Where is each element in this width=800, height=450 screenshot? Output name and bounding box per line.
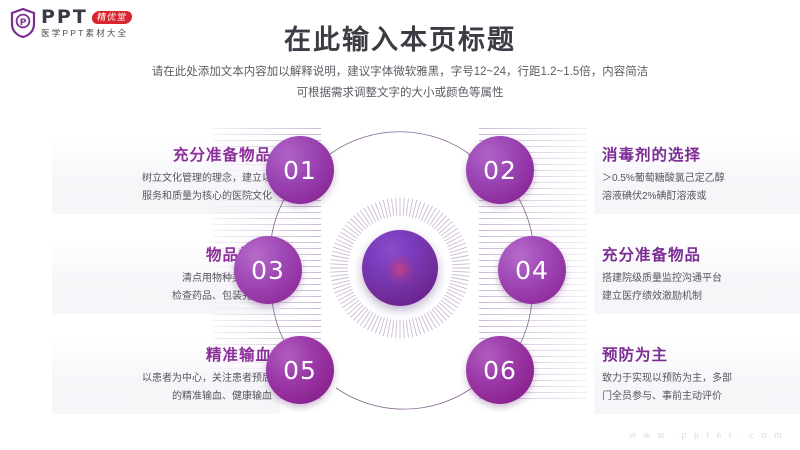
content-block-right-2[interactable]: 充分准备物品 搭建院级质量监控沟通平台 建立医疗绩效激励机制 — [594, 240, 800, 314]
node-number: 03 — [251, 256, 285, 285]
block-body: ＞0.5%葡萄糖酸氯己定乙醇 溶液碘伏2%碘酊溶液或 — [602, 170, 800, 205]
block-heading: 预防为主 — [602, 344, 800, 367]
block-body-line-2: 建立医疗绩效激励机制 — [602, 288, 800, 306]
content-block-right-3[interactable]: 预防为主 致力于实现以预防为主，多部 门全员参与、事前主动评价 — [594, 340, 800, 414]
block-body-line-2: 门全员参与、事前主动评价 — [602, 388, 800, 406]
block-body-line-1: ＞0.5%葡萄糖酸氯己定乙醇 — [602, 170, 800, 188]
block-body-line-1: 致力于实现以预防为主，多部 — [602, 370, 800, 388]
process-node-03[interactable]: 03 — [234, 236, 302, 304]
page-title: 在此输入本页标题 — [0, 18, 800, 57]
node-number: 02 — [483, 156, 517, 185]
footer-watermark: w w w . p p t e r . c o m — [629, 430, 784, 440]
node-number: 01 — [283, 156, 317, 185]
center-sphere[interactable] — [362, 230, 438, 306]
page-subtitle: 请在此处添加文本内容加以解释说明，建议字体微软雅黑，字号12~24，行距1.2~… — [0, 62, 800, 105]
process-node-06[interactable]: 06 — [466, 336, 534, 404]
process-node-05[interactable]: 05 — [266, 336, 334, 404]
node-number: 05 — [283, 356, 317, 385]
block-body-line-1: 搭建院级质量监控沟通平台 — [602, 270, 800, 288]
process-node-02[interactable]: 02 — [466, 136, 534, 204]
block-body-line-2: 溶液碘伏2%碘酊溶液或 — [602, 188, 800, 206]
process-node-01[interactable]: 01 — [266, 136, 334, 204]
block-body: 致力于实现以预防为主，多部 门全员参与、事前主动评价 — [602, 370, 800, 405]
subtitle-line-1: 请在此处添加文本内容加以解释说明，建议字体微软雅黑，字号12~24，行距1.2~… — [0, 62, 800, 83]
block-heading: 消毒剂的选择 — [602, 144, 800, 167]
process-node-04[interactable]: 04 — [498, 236, 566, 304]
subtitle-line-2: 可根据需求调整文字的大小或颜色等属性 — [0, 83, 800, 104]
content-block-right-1[interactable]: 消毒剂的选择 ＞0.5%葡萄糖酸氯己定乙醇 溶液碘伏2%碘酊溶液或 — [594, 140, 800, 214]
node-number: 06 — [483, 356, 517, 385]
circular-process-diagram: 01 02 03 04 05 06 — [210, 118, 590, 418]
block-body: 搭建院级质量监控沟通平台 建立医疗绩效激励机制 — [602, 270, 800, 305]
block-heading: 充分准备物品 — [602, 244, 800, 267]
node-number: 04 — [515, 256, 549, 285]
